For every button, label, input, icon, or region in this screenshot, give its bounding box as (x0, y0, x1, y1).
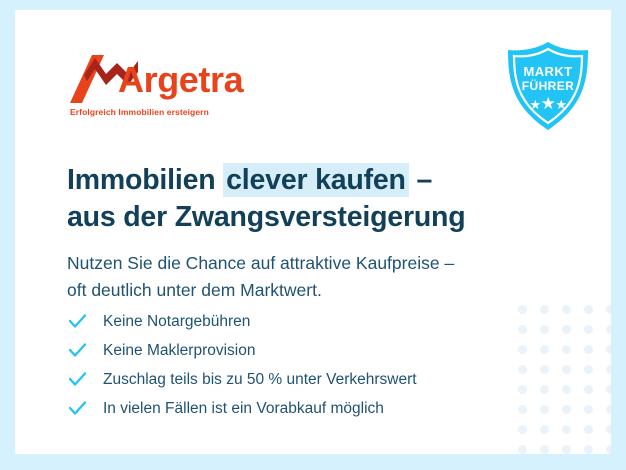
dot (606, 385, 611, 394)
ad-banner: Argetra Erfolgreich Immobilien ersteiger… (0, 0, 626, 470)
card-surface: Argetra Erfolgreich Immobilien ersteiger… (15, 10, 611, 454)
dot (562, 305, 571, 314)
dot (562, 445, 571, 454)
dot (540, 325, 549, 334)
dot (606, 425, 611, 434)
subheadline-line2: oft deutlich unter dem Marktwert. (67, 280, 322, 300)
check-icon (69, 372, 86, 387)
dot (518, 365, 527, 374)
dot (584, 405, 593, 414)
check-icon (69, 343, 86, 358)
market-leader-badge: MARKT FÜHRER ★★★ (504, 40, 592, 132)
benefits-list: Keine Notargebühren Keine Maklerprovisio… (67, 307, 517, 423)
logo-wordmark: Argetra (118, 62, 243, 98)
badge-stars: ★★★ (504, 95, 592, 112)
dot (518, 425, 527, 434)
dot-grid-decoration (518, 305, 611, 454)
benefit-label: Keine Notargebühren (103, 313, 250, 330)
brand-logo: Argetra Erfolgreich Immobilien ersteiger… (70, 55, 270, 123)
check-icon (69, 401, 86, 416)
dot (540, 385, 549, 394)
dot (562, 425, 571, 434)
subheadline-line1: Nutzen Sie die Chance auf attraktive Kau… (67, 253, 454, 273)
logo-tagline: Erfolgreich Immobilien ersteigern (70, 107, 209, 117)
dot (562, 385, 571, 394)
dot (584, 385, 593, 394)
dot (584, 305, 593, 314)
dot (562, 345, 571, 354)
dot (584, 365, 593, 374)
dot (518, 345, 527, 354)
headline-line2: aus der Zwangsversteigerung (67, 201, 465, 233)
headline-highlight: clever kaufen (223, 163, 409, 197)
dot (540, 365, 549, 374)
list-item: Keine Notargebühren (67, 307, 517, 336)
dot (540, 305, 549, 314)
dot (540, 405, 549, 414)
dot (562, 365, 571, 374)
subheadline: Nutzen Sie die Chance auf attraktive Kau… (67, 250, 537, 304)
dot (518, 445, 527, 454)
dot (518, 385, 527, 394)
dot (606, 305, 611, 314)
headline-line1-after: – (409, 164, 432, 196)
dot (606, 445, 611, 454)
benefit-label: Zuschlag teils bis zu 50 % unter Verkehr… (103, 371, 417, 388)
dot (562, 405, 571, 414)
dot (540, 425, 549, 434)
dot (518, 305, 527, 314)
dot (584, 445, 593, 454)
check-icon (69, 314, 86, 329)
list-item: Zuschlag teils bis zu 50 % unter Verkehr… (67, 365, 517, 394)
dot (584, 325, 593, 334)
badge-line-1: MARKT (504, 65, 592, 78)
dot (606, 365, 611, 374)
dot (518, 405, 527, 414)
dot (540, 345, 549, 354)
list-item: In vielen Fällen ist ein Vorabkauf mögli… (67, 394, 517, 423)
dot (606, 325, 611, 334)
benefit-label: In vielen Fällen ist ein Vorabkauf mögli… (103, 400, 384, 417)
dot (584, 345, 593, 354)
headline-line1-before: Immobilien (67, 164, 223, 196)
badge-line-2: FÜHRER (504, 80, 592, 92)
dot (606, 345, 611, 354)
dot (606, 405, 611, 414)
dot (518, 325, 527, 334)
dot (562, 325, 571, 334)
headline: Immobilien clever kaufen – aus der Zwang… (67, 162, 537, 235)
dot (584, 425, 593, 434)
benefit-label: Keine Maklerprovision (103, 342, 256, 359)
list-item: Keine Maklerprovision (67, 336, 517, 365)
dot (540, 445, 549, 454)
